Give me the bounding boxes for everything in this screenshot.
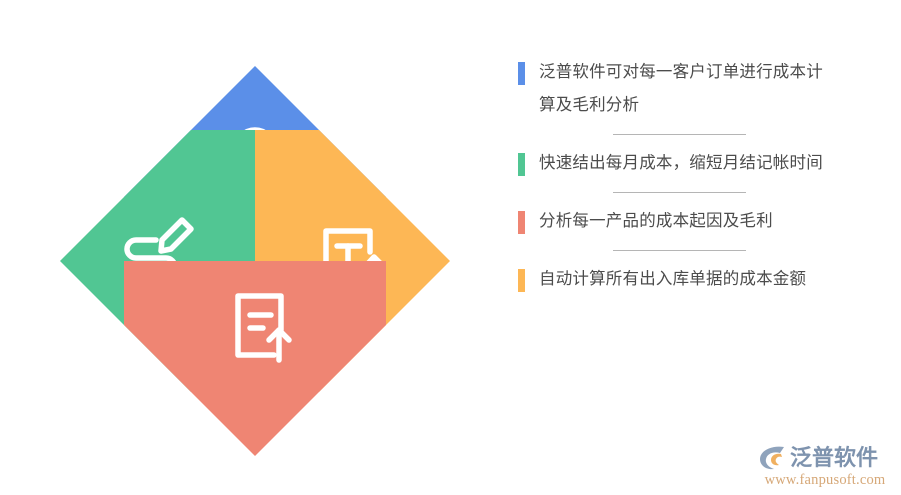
feature-divider-1 [613,134,746,135]
feature-list: 泛普软件可对每一客户订单进行成本计算及毛利分析 快速结出每月成本，缩短月结记帐时… [518,56,858,296]
feature-item-2: 快速结出每月成本，缩短月结记帐时间 [518,147,858,180]
feature-marker-4 [518,269,525,292]
feature-text-2: 快速结出每月成本，缩短月结记帐时间 [539,147,829,180]
logo-row: 泛普软件 [757,443,893,471]
feature-divider-3 [613,250,746,251]
logo-url: www.fanpusoft.com [757,472,893,489]
brand-logo: 泛普软件 www.fanpusoft.com [757,443,893,489]
diamond-quadrant-bottom [124,261,386,456]
feature-item-3: 分析每一产品的成本起因及毛利 [518,205,858,238]
feature-text-3: 分析每一产品的成本起因及毛利 [539,205,829,238]
feature-text-4: 自动计算所有出入库单据的成本金额 [539,263,829,296]
feature-marker-3 [518,211,525,234]
feature-item-1: 泛普软件可对每一客户订单进行成本计算及毛利分析 [518,56,858,122]
fanpu-swirl-icon [757,444,787,471]
feature-divider-2 [613,192,746,193]
feature-text-1: 泛普软件可对每一客户订单进行成本计算及毛利分析 [539,56,829,122]
logo-wordmark: 泛普软件 [790,444,878,471]
feature-marker-1 [518,62,525,85]
diamond-infographic [58,64,452,458]
feature-marker-2 [518,153,525,176]
feature-item-4: 自动计算所有出入库单据的成本金额 [518,263,858,296]
